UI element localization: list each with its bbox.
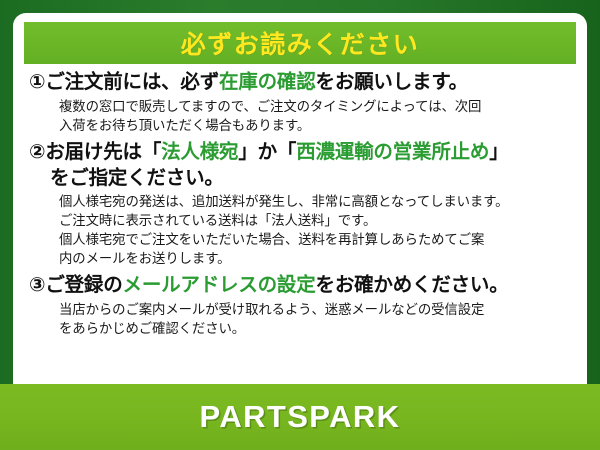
notice-item-1-heading-pre: ご注文前には、必ず xyxy=(45,71,219,93)
notice-panel: 必ずお読みください ①ご注文前には、必ず在庫の確認をお願いします。 複数の窓口で… xyxy=(13,13,587,398)
notice-item-2-heading-mid: 」か「 xyxy=(238,141,296,163)
notice-item-3-heading: ③ご登録のメールアドレスの設定をお確かめください。 xyxy=(29,273,573,299)
notice-item-2-body-line-4: 内のメールをお送りします。 xyxy=(59,249,573,268)
notice-item-3-body: 当店からのご案内メールが受け取れるよう、迷惑メールなどの受信設定 をあらかじめご… xyxy=(29,300,573,338)
notice-item-3-heading-post: をお確かめください。 xyxy=(316,274,509,296)
notice-item-2-body: 個人様宅宛の発送は、追加送料が発生し、非常に高額となってしまいます。 ご注文時に… xyxy=(29,192,573,268)
notice-item-3-heading-pre: ご登録の xyxy=(45,274,122,296)
notice-item-2-heading: ②お届け先は「法人様宛」か「西濃運輸の営業所止め」をご指定ください。 xyxy=(29,140,573,191)
notice-item-2-body-line-3: 個人様宅宛でご注文をいただいた場合、送料を再計算しあらためてご案 xyxy=(59,230,573,249)
notice-card: 必ずお読みください ①ご注文前には、必ず在庫の確認をお願いします。 複数の窓口で… xyxy=(0,0,600,450)
notice-item-1-body: 複数の窓口で販売してますので、ご注文のタイミングによっては、次回 入荷をお待ち頂… xyxy=(29,97,573,135)
notice-title-bar: 必ずお読みください xyxy=(24,22,576,64)
notice-item-3-marker: ③ xyxy=(29,274,45,296)
notice-item-2-heading-pre: お届け先は「 xyxy=(45,141,161,163)
notice-item-1-body-line-1: 複数の窓口で販売してますので、ご注文のタイミングによっては、次回 xyxy=(59,97,573,116)
notice-item-2-heading-line-2: をご指定ください。 xyxy=(29,166,573,192)
notice-item-1-heading: ①ご注文前には、必ず在庫の確認をお願いします。 xyxy=(29,70,573,96)
notice-item-2-body-line-1: 個人様宅宛の発送は、追加送料が発生し、非常に高額となってしまいます。 xyxy=(59,192,573,211)
notice-item-1-body-line-2: 入荷をお待ち頂いただく場合もあります。 xyxy=(59,116,573,135)
notice-item-1-heading-post: をお願いします。 xyxy=(316,71,468,93)
brand-footer-band: PARTSPARK xyxy=(0,384,600,450)
notice-item-1-heading-highlight: 在庫の確認 xyxy=(219,71,316,93)
notice-item-list: ①ご注文前には、必ず在庫の確認をお願いします。 複数の窓口で販売してますので、ご… xyxy=(23,70,577,338)
notice-item-1-marker: ① xyxy=(29,71,45,93)
page-title: 必ずお読みください xyxy=(181,25,420,61)
notice-item-2-heading-post: 」 xyxy=(489,141,508,163)
notice-item-3-body-line-2: をあらかじめご確認ください。 xyxy=(59,319,573,338)
notice-item-2-heading-highlight-2: 西濃運輸の営業所止め xyxy=(296,141,489,163)
notice-item-1: ①ご注文前には、必ず在庫の確認をお願いします。 複数の窓口で販売してますので、ご… xyxy=(29,70,573,135)
notice-item-3-heading-highlight: メールアドレスの設定 xyxy=(123,274,316,296)
notice-item-2-body-line-2: ご注文時に表示されている送料は「法人送料」です。 xyxy=(59,211,573,230)
notice-item-2-marker: ② xyxy=(29,141,45,163)
notice-item-2: ②お届け先は「法人様宛」か「西濃運輸の営業所止め」をご指定ください。 個人様宅宛… xyxy=(29,140,573,269)
brand-wordmark: PARTSPARK xyxy=(200,399,401,435)
notice-item-3-body-line-1: 当店からのご案内メールが受け取れるよう、迷惑メールなどの受信設定 xyxy=(59,300,573,319)
notice-item-2-heading-highlight: 法人様宛 xyxy=(161,141,238,163)
notice-item-3: ③ご登録のメールアドレスの設定をお確かめください。 当店からのご案内メールが受け… xyxy=(29,273,573,338)
